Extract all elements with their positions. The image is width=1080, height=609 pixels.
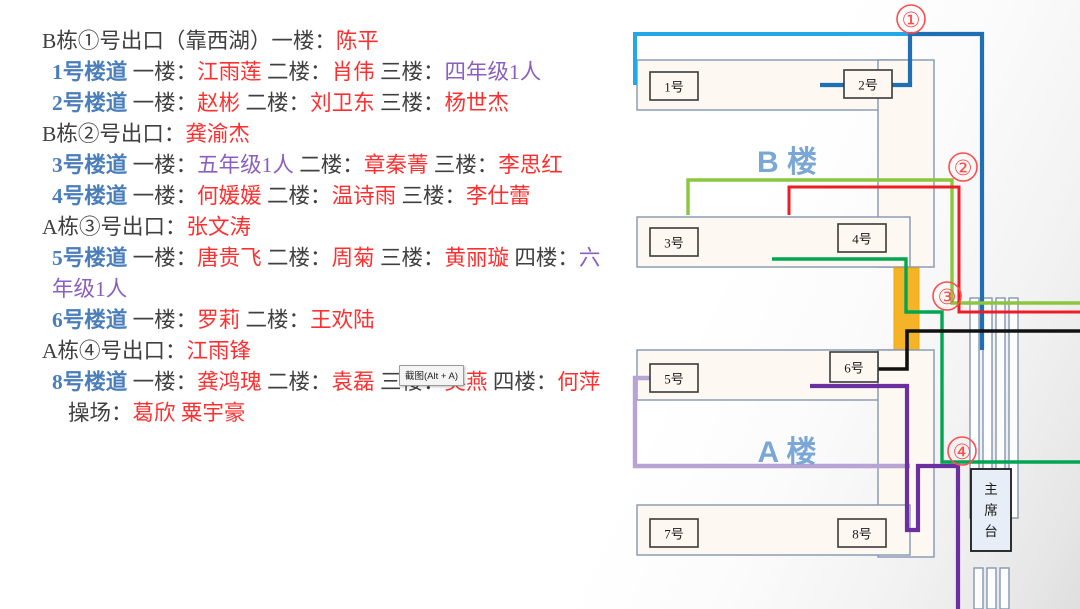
stair-box-8-label: 8号 xyxy=(852,527,872,542)
assignment-line: 5号楼道 一楼：唐贵飞 二楼：周菊 三楼：黄丽璇 四楼：六年级1人 xyxy=(8,243,614,305)
assignment-segment: 一楼： xyxy=(127,246,197,270)
assignment-segment: 李思红 xyxy=(498,153,563,177)
podium-label-char-1: 席 xyxy=(984,503,998,518)
assignment-line: A栋③号出口：张文涛 xyxy=(8,212,614,243)
assignment-segment: 三楼： xyxy=(396,184,466,208)
assignment-segment: 号楼道 xyxy=(63,370,128,394)
assignment-line: 3号楼道 一楼：五年级1人 二楼：章秦菁 三楼：李思红 xyxy=(8,150,614,181)
exit-marker-1-label: ① xyxy=(902,8,921,32)
podium-label-char-0: 主 xyxy=(984,482,998,497)
stair-box-1-label: 1号 xyxy=(664,80,684,95)
assignment-segment: B栋①号出口（靠西湖）一楼： xyxy=(42,29,336,53)
assignment-segment: A栋④号出口： xyxy=(42,339,187,363)
assignment-segment: 三楼： xyxy=(375,60,445,84)
podium-label-char-2: 台 xyxy=(984,524,998,539)
assignment-segment: 二楼： xyxy=(262,60,332,84)
assignment-line: 2号楼道 一楼：赵彬 二楼：刘卫东 三楼：杨世杰 xyxy=(8,88,614,119)
stair-box-2-label: 2号 xyxy=(858,78,878,93)
assignment-segment: 五年级1人 xyxy=(197,153,294,177)
assignment-segment: 号楼道 xyxy=(63,91,128,115)
assignment-segment: 号楼道 xyxy=(63,153,128,177)
assignment-segment: 8 xyxy=(52,370,63,394)
stair-box-1[interactable]: 1号 xyxy=(650,72,698,100)
assignment-segment: 李仕蕾 xyxy=(466,184,531,208)
assignment-segment: 江雨锋 xyxy=(187,339,252,363)
assignment-segment: 号楼道 xyxy=(63,246,128,270)
assignment-segment: 4 xyxy=(52,184,63,208)
assignment-segment: 三楼： xyxy=(428,153,498,177)
assignment-segment: 罗莉 xyxy=(197,308,240,332)
stair-box-6-label: 6号 xyxy=(844,361,864,376)
assignment-segment: 二楼： xyxy=(262,184,332,208)
podium-box: 主 席 台 xyxy=(971,469,1011,551)
assignment-segment: 四年级1人 xyxy=(444,60,541,84)
exit-marker-4-label: ④ xyxy=(953,440,972,464)
evacuation-assignment-text: B栋①号出口（靠西湖）一楼：陈平1号楼道 一楼：江雨莲 二楼：肖伟 三楼：四年级… xyxy=(0,0,622,609)
assignment-segment: 一楼： xyxy=(127,60,197,84)
stair-box-4[interactable]: 4号 xyxy=(838,224,886,252)
assignment-segment: 一楼： xyxy=(127,153,197,177)
snipping-tool-tooltip: 截图(Alt + A) xyxy=(399,365,464,386)
assignment-segment: 唐贵飞 xyxy=(197,246,262,270)
building-label-a: A 楼 xyxy=(758,436,817,469)
exit-marker-1: ① xyxy=(897,5,925,33)
stair-box-2[interactable]: 2号 xyxy=(844,70,892,98)
exit-marker-3: ③ xyxy=(933,282,961,310)
assignment-segment: 三楼： xyxy=(375,91,445,115)
assignment-segment: 一楼： xyxy=(127,184,197,208)
assignment-segment: 2 xyxy=(52,91,63,115)
assignment-segment: 二楼： xyxy=(294,153,364,177)
assignment-segment: 肖伟 xyxy=(332,60,375,84)
assignment-segment: A栋③号出口： xyxy=(42,215,187,239)
assignment-line: 4号楼道 一楼：何媛媛 二楼：温诗雨 三楼：李仕蕾 xyxy=(8,181,614,212)
assignment-segment: 杨世杰 xyxy=(444,91,509,115)
exit-marker-2-label: ② xyxy=(954,156,973,180)
assignment-segment: 三楼： xyxy=(375,246,445,270)
slide-canvas: B栋①号出口（靠西湖）一楼：陈平1号楼道 一楼：江雨莲 二楼：肖伟 三楼：四年级… xyxy=(0,0,1080,609)
assignment-segment: 温诗雨 xyxy=(332,184,397,208)
assignment-segment: 陈平 xyxy=(336,29,379,53)
assignment-segment: 四楼： xyxy=(509,246,579,270)
assignment-line: 8号楼道 一楼：龚鸿瑰 二楼：袁磊 三楼：吴燕 四楼：何萍 xyxy=(8,367,614,398)
stair-box-8[interactable]: 8号 xyxy=(838,519,886,547)
assignment-segment: 江雨莲 xyxy=(197,60,262,84)
assignment-segment: 号楼道 xyxy=(63,184,128,208)
assignment-segment: 袁磊 xyxy=(332,370,375,394)
assignment-segment: 赵彬 xyxy=(197,91,240,115)
stair-box-5[interactable]: 5号 xyxy=(650,364,698,392)
assignment-segment: 周菊 xyxy=(332,246,375,270)
assignment-segment: 号楼道 xyxy=(63,60,128,84)
assignment-segment: 二楼： xyxy=(262,246,332,270)
assignment-segment: 二楼： xyxy=(240,91,310,115)
assignment-segment: 二楼： xyxy=(240,308,310,332)
stair-box-3-label: 3号 xyxy=(664,236,684,251)
assignment-segment: 6 xyxy=(52,308,63,332)
assignment-segment: 一楼： xyxy=(127,370,197,394)
stair-box-5-label: 5号 xyxy=(664,372,684,387)
exit-marker-3-label: ③ xyxy=(938,285,957,309)
assignment-segment: 一楼： xyxy=(127,308,197,332)
assignment-line: A栋④号出口：江雨锋 xyxy=(8,336,614,367)
assignment-segment: 3 xyxy=(52,153,63,177)
assignment-line: B栋①号出口（靠西湖）一楼：陈平 xyxy=(8,26,614,57)
assignment-segment: 张文涛 xyxy=(187,215,252,239)
assignment-segment: 王欢陆 xyxy=(310,308,375,332)
assignment-segment: 刘卫东 xyxy=(310,91,375,115)
assignment-segment: 章秦菁 xyxy=(364,153,429,177)
stair-box-6[interactable]: 6号 xyxy=(830,352,878,382)
assignment-segment: 号楼道 xyxy=(63,308,128,332)
assignment-line: 1号楼道 一楼：江雨莲 二楼：肖伟 三楼：四年级1人 xyxy=(8,57,614,88)
assignment-segment: 何媛媛 xyxy=(197,184,262,208)
assignment-line: 6号楼道 一楼：罗莉 二楼：王欢陆 xyxy=(8,305,614,336)
assignment-segment: 二楼： xyxy=(262,370,332,394)
assignment-segment: 何萍 xyxy=(557,370,600,394)
assignment-segment: 龚渝杰 xyxy=(185,122,250,146)
assignment-segment: B栋②号出口： xyxy=(42,122,185,146)
building-label-b: B 楼 xyxy=(757,146,817,179)
stair-box-7-label: 7号 xyxy=(664,527,684,542)
assignment-line: B栋②号出口：龚渝杰 xyxy=(8,119,614,150)
assignment-segment: 操场： xyxy=(68,401,133,425)
assignment-segment: 黄丽璇 xyxy=(444,246,509,270)
stair-box-4-label: 4号 xyxy=(852,232,872,247)
exit-marker-2: ② xyxy=(949,153,977,181)
stair-box-7[interactable]: 7号 xyxy=(650,519,698,547)
assignment-segment: 一楼： xyxy=(127,91,197,115)
stair-box-3[interactable]: 3号 xyxy=(650,228,698,256)
assignment-segment: 四楼： xyxy=(487,370,557,394)
assignment-segment: 5 xyxy=(52,246,63,270)
assignment-line: 操场：葛欣 粟宇豪 xyxy=(8,398,614,429)
track-lanes-lower xyxy=(974,568,1009,609)
assignment-segment: 葛欣 粟宇豪 xyxy=(133,401,246,425)
assignment-segment: 1 xyxy=(52,60,63,84)
campus-evacuation-map: 主 席 台 B 楼 A 楼 1号 2号 xyxy=(622,0,1080,609)
assignment-segment: 龚鸿瑰 xyxy=(197,370,262,394)
